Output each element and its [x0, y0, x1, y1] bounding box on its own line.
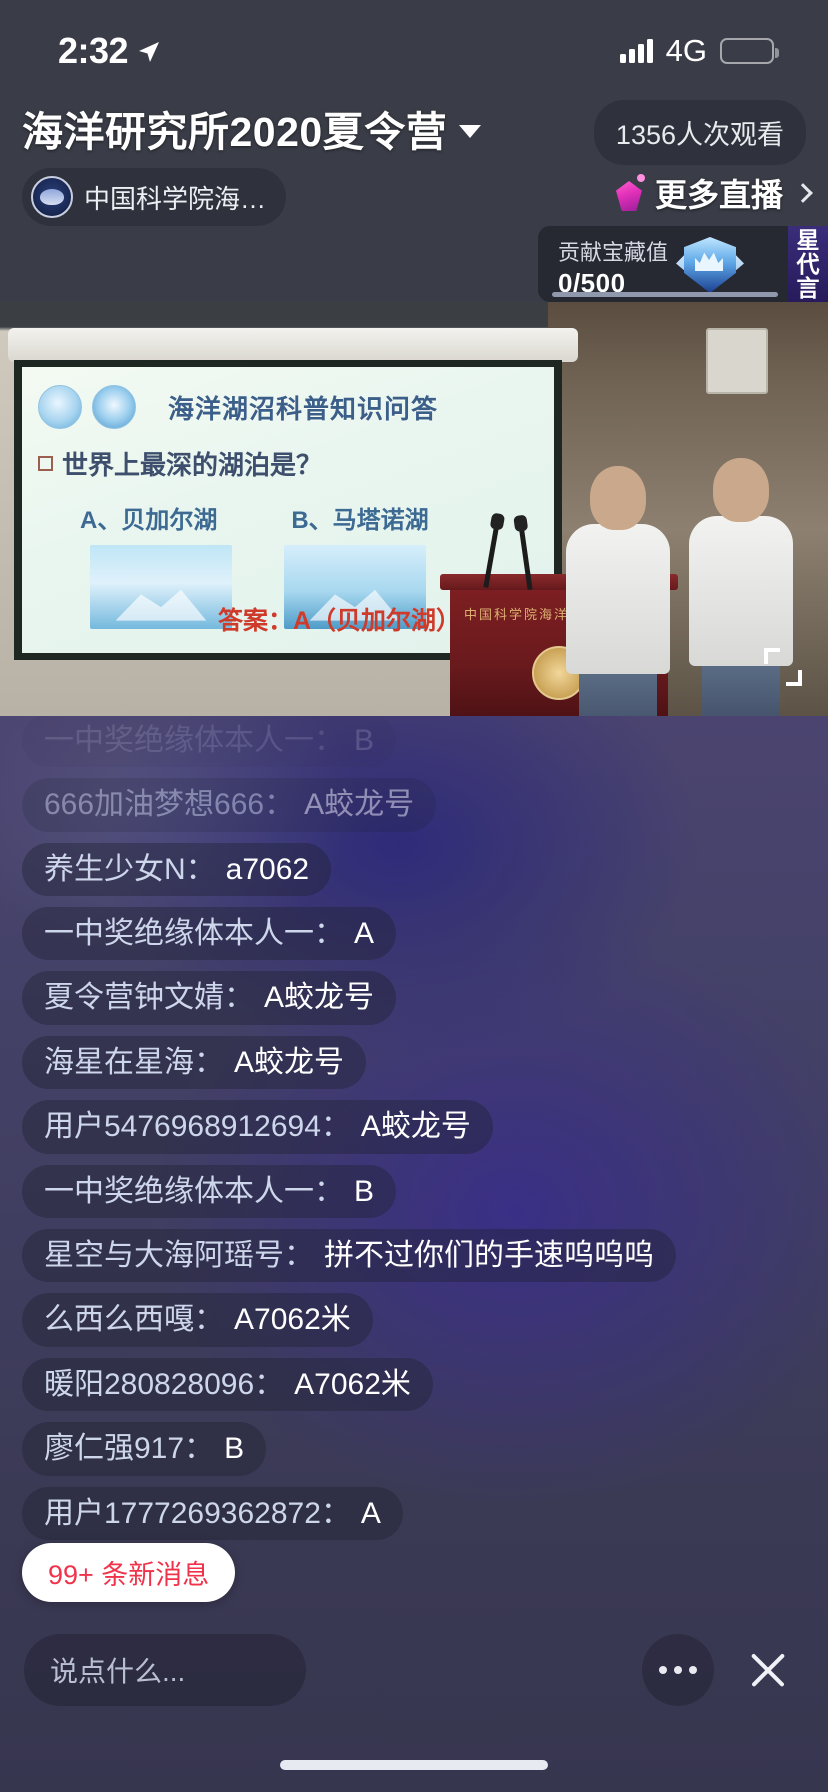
- institute-logo-icon: [31, 176, 73, 218]
- chat-nickname: 用户5476968912694：: [44, 1110, 351, 1143]
- chat-nickname: 廖仁强917：: [44, 1432, 214, 1465]
- star-tag-char-1: 星: [797, 228, 820, 252]
- organization-name: 中国科学院海…: [84, 179, 266, 216]
- chat-message-list[interactable]: 一中奖绝缘体本人一：B666加油梦想666：A蛟龙号养生少女N：a7062一中奖…: [22, 716, 708, 1540]
- wall-panel: [706, 328, 768, 394]
- slide-option-b: B、马塔诺湖: [291, 500, 428, 535]
- chat-nickname: 666加油梦想666：: [44, 788, 294, 821]
- chat-text: A蛟龙号: [264, 981, 374, 1014]
- chat-text: a7062: [226, 853, 309, 886]
- chat-text: A7062米: [294, 1368, 411, 1401]
- new-messages-badge[interactable]: 99+ 条新消息: [22, 1543, 235, 1602]
- chat-nickname: 星空与大海阿瑶号：: [44, 1239, 314, 1272]
- fullscreen-expand-icon[interactable]: [764, 648, 802, 686]
- chat-message-row: 一中奖绝缘体本人一：B: [22, 716, 708, 767]
- slide-options: A、贝加尔湖 B、马塔诺湖: [38, 500, 538, 535]
- more-dots-icon: [659, 1666, 697, 1674]
- chat-bubble[interactable]: 一中奖绝缘体本人一：B: [22, 1165, 396, 1218]
- chat-bubble[interactable]: 666加油梦想666：A蛟龙号: [22, 778, 436, 831]
- chat-message-row: 星空与大海阿瑶号：拼不过你们的手速呜呜呜: [22, 1229, 708, 1282]
- star-tag-char-3: 言: [797, 276, 820, 300]
- presenter-person-1: [558, 466, 678, 716]
- chat-bubble[interactable]: 一中奖绝缘体本人一：A: [22, 907, 396, 960]
- chat-bubble[interactable]: 么西么西嘎：A7062米: [22, 1293, 373, 1346]
- chat-text: A: [354, 917, 374, 950]
- slide-logo-1-icon: [38, 385, 82, 429]
- chat-message-row: 一中奖绝缘体本人一：A: [22, 907, 708, 960]
- chat-nickname: 用户1777269362872：: [44, 1497, 351, 1530]
- chat-bubble[interactable]: 廖仁强917：B: [22, 1422, 266, 1475]
- chat-bubble[interactable]: 用户5476968912694：A蛟龙号: [22, 1100, 493, 1153]
- organization-pill[interactable]: 中国科学院海…: [22, 168, 286, 226]
- chat-text: B: [354, 724, 374, 757]
- chat-text: B: [354, 1175, 374, 1208]
- chevron-right-icon: [793, 183, 813, 203]
- more-live-label: 更多直播: [655, 170, 783, 216]
- slide-question-row: 世界上最深的湖泊是？: [38, 445, 538, 482]
- more-options-button[interactable]: [642, 1634, 714, 1706]
- treasure-progress-bar: [552, 292, 778, 297]
- bottom-action-bar: 说点什么...: [0, 1622, 828, 1718]
- page-title: 海洋研究所2020夏令营: [22, 98, 447, 158]
- video-player[interactable]: 海洋湖沼科普知识问答 世界上最深的湖泊是？ A、贝加尔湖 B、马塔诺湖 答案：A…: [0, 302, 828, 716]
- slide-logo-2-icon: [92, 385, 136, 429]
- chat-nickname: 么西么西嘎：: [44, 1303, 224, 1336]
- status-bar-left: 2:32: [58, 30, 161, 72]
- chat-text: A蛟龙号: [304, 788, 414, 821]
- stream-title-row[interactable]: 海洋研究所2020夏令营: [22, 98, 481, 158]
- chat-text: A: [361, 1497, 381, 1530]
- star-tag-char-2: 代: [797, 252, 820, 276]
- chat-bubble[interactable]: 海星在星海：A蛟龙号: [22, 1036, 366, 1089]
- chat-bubble[interactable]: 夏令营钟文婧：A蛟龙号: [22, 971, 396, 1024]
- chat-message-row: 一中奖绝缘体本人一：B: [22, 1165, 708, 1218]
- chevron-down-icon[interactable]: [459, 125, 481, 138]
- status-bar: 2:32 4G: [0, 0, 828, 88]
- chat-nickname: 一中奖绝缘体本人一：: [44, 724, 344, 757]
- chat-message-row: 海星在星海：A蛟龙号: [22, 1036, 708, 1089]
- chat-bubble[interactable]: 一中奖绝缘体本人一：B: [22, 716, 396, 767]
- chat-text: A蛟龙号: [361, 1110, 471, 1143]
- status-bar-right: 4G: [620, 33, 774, 69]
- treasure-texts: 贡献宝藏值 0/500: [558, 235, 668, 299]
- chat-nickname: 海星在星海：: [44, 1046, 224, 1079]
- slide-title: 海洋湖沼科普知识问答: [168, 389, 438, 426]
- chat-bubble[interactable]: 星空与大海阿瑶号：拼不过你们的手速呜呜呜: [22, 1229, 676, 1282]
- chat-message-row: 么西么西嘎：A7062米: [22, 1293, 708, 1346]
- slide-thumbnail-a: [90, 545, 232, 629]
- chat-message-row: 廖仁强917：B: [22, 1422, 708, 1475]
- chat-bubble[interactable]: 暖阳280828096：A7062米: [22, 1358, 433, 1411]
- chat-message-row: 养生少女N：a7062: [22, 843, 708, 896]
- close-button[interactable]: [732, 1634, 804, 1706]
- bullet-square-icon: [38, 456, 53, 471]
- chat-message-row: 夏令营钟文婧：A蛟龙号: [22, 971, 708, 1024]
- network-label: 4G: [666, 33, 707, 69]
- home-indicator: [280, 1760, 548, 1770]
- projector-screen-case: [8, 328, 578, 362]
- chat-nickname: 养生少女N：: [44, 853, 216, 886]
- chat-panel: 一中奖绝缘体本人一：B666加油梦想666：A蛟龙号养生少女N：a7062一中奖…: [0, 716, 828, 1792]
- location-arrow-icon: [137, 40, 161, 64]
- close-icon: [746, 1648, 790, 1692]
- chat-input[interactable]: 说点什么...: [24, 1634, 306, 1706]
- star-endorsement-tag[interactable]: 星 代 言: [788, 226, 828, 302]
- gem-icon: [612, 173, 646, 213]
- treasure-widget[interactable]: 贡献宝藏值 0/500 星 代 言: [538, 226, 828, 302]
- live-stream-screen: 2:32 4G 海洋研究所2020夏令营 1356人次观看 中国科学院海… 更多…: [0, 0, 828, 1792]
- chat-text: A7062米: [234, 1303, 351, 1336]
- battery-low-power-icon: [720, 38, 774, 64]
- chat-message-row: 用户5476968912694：A蛟龙号: [22, 1100, 708, 1153]
- slide-header: 海洋湖沼科普知识问答: [38, 385, 538, 429]
- treasure-label: 贡献宝藏值: [558, 235, 668, 267]
- stream-header: 海洋研究所2020夏令营 1356人次观看 中国科学院海… 更多直播 贡献宝藏值…: [0, 88, 828, 300]
- signal-bars-icon: [620, 39, 653, 63]
- slide-question: 世界上最深的湖泊是？: [62, 445, 322, 482]
- chat-text: A蛟龙号: [234, 1046, 344, 1079]
- status-time: 2:32: [58, 30, 128, 72]
- viewer-count-badge: 1356人次观看: [594, 100, 806, 165]
- chat-nickname: 暖阳280828096：: [44, 1368, 284, 1401]
- chat-text: 拼不过你们的手速呜呜呜: [324, 1239, 654, 1272]
- chat-nickname: 一中奖绝缘体本人一：: [44, 1175, 344, 1208]
- chat-nickname: 夏令营钟文婧：: [44, 981, 254, 1014]
- chat-bubble[interactable]: 养生少女N：a7062: [22, 843, 331, 896]
- chat-message-row: 暖阳280828096：A7062米: [22, 1358, 708, 1411]
- chat-message-row: 用户1777269362872：A: [22, 1487, 708, 1540]
- chat-bubble[interactable]: 用户1777269362872：A: [22, 1487, 403, 1540]
- treasure-body: 贡献宝藏值 0/500: [538, 226, 788, 302]
- more-live-button[interactable]: 更多直播: [612, 170, 810, 216]
- chat-text: B: [224, 1432, 244, 1465]
- slide-answer: 答案：A（贝加尔湖）: [218, 601, 461, 637]
- crown-shield-icon: [682, 233, 738, 293]
- slide-option-a: A、贝加尔湖: [80, 500, 217, 535]
- chat-message-row: 666加油梦想666：A蛟龙号: [22, 778, 708, 831]
- chat-nickname: 一中奖绝缘体本人一：: [44, 917, 344, 950]
